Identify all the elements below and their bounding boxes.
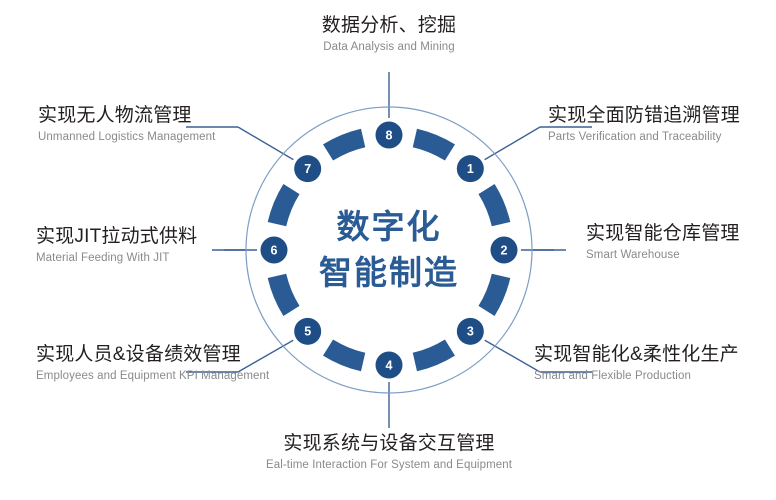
node-label-en-3: Smart and Flexible Production	[534, 368, 739, 384]
node-label-zh-4: 实现系统与设备交互管理	[266, 432, 512, 455]
badge-3[interactable]: 3	[453, 314, 487, 348]
node-label-en-5: Employees and Equipment KPI Management	[36, 368, 269, 384]
badge-number-4: 4	[386, 358, 393, 372]
node-label-zh-6: 实现JIT拉动式供料	[36, 225, 197, 248]
node-label-zh-8: 数据分析、挖掘	[322, 14, 456, 37]
node-label-5[interactable]: 实现人员&设备绩效管理Employees and Equipment KPI M…	[36, 343, 269, 384]
node-label-2[interactable]: 实现智能仓库管理Smart Warehouse	[586, 222, 740, 263]
center-title-line-2: 智能制造	[274, 250, 504, 296]
badge-number-5: 5	[304, 325, 311, 339]
node-label-en-7: Unmanned Logistics Management	[38, 129, 215, 145]
ring-segment	[415, 138, 450, 153]
node-label-7[interactable]: 实现无人物流管理Unmanned Logistics Management	[38, 104, 215, 145]
node-label-8[interactable]: 数据分析、挖掘Data Analysis and Mining	[322, 14, 456, 55]
node-label-zh-1: 实现全面防错追溯管理	[548, 104, 740, 127]
badge-8[interactable]: 8	[372, 118, 406, 152]
ring-segment	[415, 348, 450, 363]
node-label-en-6: Material Feeding With JIT	[36, 250, 197, 266]
node-label-6[interactable]: 实现JIT拉动式供料Material Feeding With JIT	[36, 225, 197, 266]
node-label-4[interactable]: 实现系统与设备交互管理Eal-time Interaction For Syst…	[266, 432, 512, 473]
ring-segment	[328, 348, 363, 363]
node-label-en-4: Eal-time Interaction For System and Equi…	[266, 457, 512, 473]
node-label-en-2: Smart Warehouse	[586, 247, 740, 263]
node-label-1[interactable]: 实现全面防错追溯管理Parts Verification and Traceab…	[548, 104, 740, 145]
badge-1[interactable]: 1	[453, 152, 487, 186]
node-label-zh-2: 实现智能仓库管理	[586, 222, 740, 245]
node-label-en-1: Parts Verification and Traceability	[548, 129, 740, 145]
badge-number-7: 7	[304, 162, 311, 176]
node-label-zh-3: 实现智能化&柔性化生产	[534, 343, 739, 366]
badge-4[interactable]: 4	[372, 348, 406, 382]
diagram-canvas: 12345678 数字化 智能制造 实现全面防错追溯管理Parts Verifi…	[0, 0, 776, 500]
node-label-zh-5: 实现人员&设备绩效管理	[36, 343, 269, 366]
badge-number-3: 3	[467, 325, 474, 339]
badge-7[interactable]: 7	[291, 152, 325, 186]
badge-5[interactable]: 5	[291, 314, 325, 348]
center-title-line-1: 数字化	[274, 204, 504, 250]
ring-segment	[328, 138, 363, 153]
node-label-zh-7: 实现无人物流管理	[38, 104, 215, 127]
center-title: 数字化 智能制造	[274, 204, 504, 296]
node-label-3[interactable]: 实现智能化&柔性化生产Smart and Flexible Production	[534, 343, 739, 384]
badge-number-8: 8	[386, 128, 393, 142]
badge-number-1: 1	[467, 162, 474, 176]
node-label-en-8: Data Analysis and Mining	[322, 39, 456, 55]
